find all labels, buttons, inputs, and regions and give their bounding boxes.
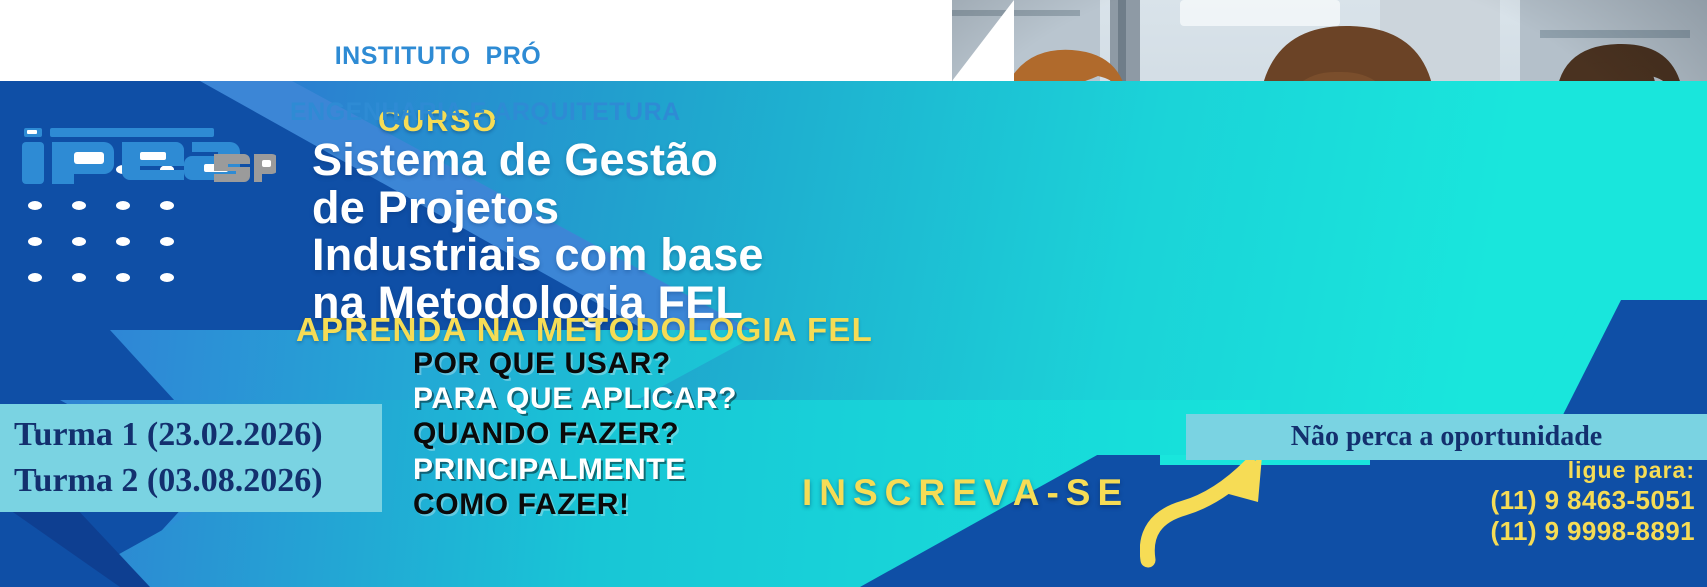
logo-icon [18,126,276,184]
logo[interactable]: INSTITUTO PRÓ ENGENHARIA E ARQUITETURA [18,14,681,184]
institute-line-2: ENGENHARIA E ARQUITETURA [290,98,681,126]
bullet-item: COMO FAZER! [413,489,737,520]
phone-number-1[interactable]: (11) 9 8463-5051 [1491,485,1695,517]
class-dates-box: Turma 1 (23.02.2026) Turma 2 (03.08.2026… [0,404,382,512]
curved-arrow-icon [1140,452,1280,572]
dot-icon [28,201,42,210]
dot-icon [116,273,130,282]
course-bullet-list: POR QUE USAR? PARA QUE APLICAR? QUANDO F… [413,348,737,524]
contact-block: ligue para: (11) 9 8463-5051 (11) 9 9998… [1491,456,1695,548]
institute-line-1: INSTITUTO PRÓ [335,42,542,70]
dot-icon [116,201,130,210]
dot-icon [72,237,86,246]
dot-grid-decoration [28,165,204,309]
institute-name: INSTITUTO PRÓ ENGENHARIA E ARQUITETURA [290,14,681,184]
promo-banner: ENTICE ALMARE [0,0,1707,587]
ipea-sp-logo-mark [18,126,276,184]
turma-1: Turma 1 (23.02.2026) [14,412,382,458]
dot-icon [72,273,86,282]
bullet-item: PARA QUE APLICAR? [413,383,737,414]
enroll-cta-text[interactable]: INSCREVA-SE [802,472,1129,514]
dot-icon [160,201,174,210]
phone-number-2[interactable]: (11) 9 9998-8891 [1491,516,1695,548]
dot-icon [72,201,86,210]
turma-2: Turma 2 (03.08.2026) [14,458,382,504]
call-label: ligue para: [1491,456,1695,485]
dot-icon [116,237,130,246]
dot-icon [160,237,174,246]
course-subtitle: APRENDA NA METODOLOGIA FEL [296,311,873,349]
dot-icon [28,273,42,282]
bullet-item: POR QUE USAR? [413,348,737,379]
opportunity-text: Não perca a oportunidade [1291,421,1602,453]
bullet-item: PRINCIPALMENTE [413,454,737,485]
bullet-item: QUANDO FAZER? [413,418,737,449]
dot-icon [28,237,42,246]
dot-icon [160,273,174,282]
opportunity-banner: Não perca a oportunidade [1186,414,1707,460]
